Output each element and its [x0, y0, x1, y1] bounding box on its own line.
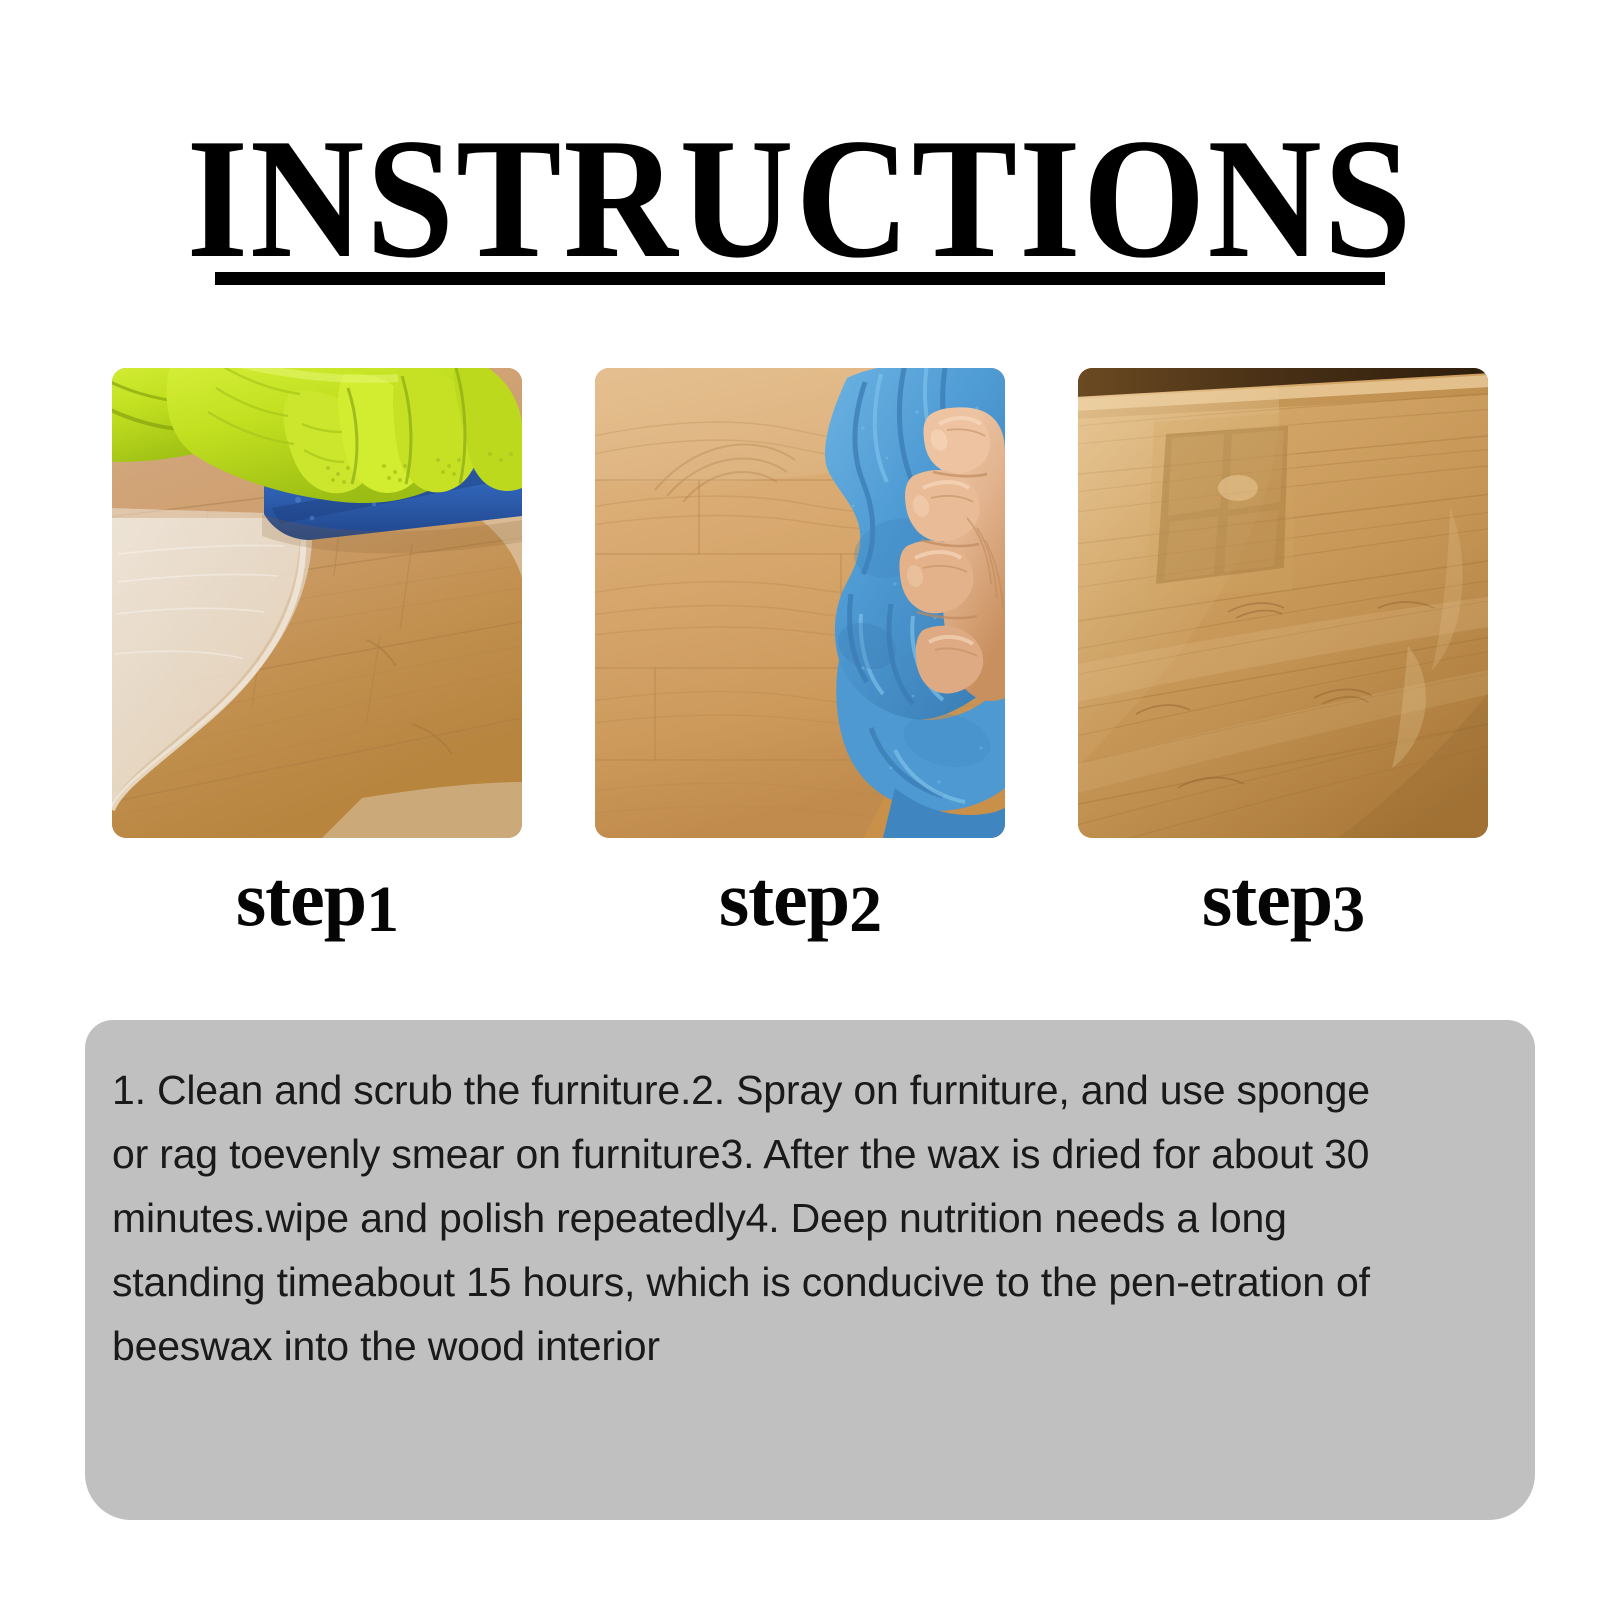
step-cell-2: step2	[595, 368, 1005, 938]
step1-label-word: step	[236, 855, 366, 942]
steps-row: step1	[112, 368, 1488, 938]
step2-label: step2	[595, 860, 1005, 938]
step2-label-word: step	[719, 855, 849, 942]
step1-photo	[112, 368, 522, 838]
instructions-poster: INSTRUCTIONS	[0, 0, 1600, 1600]
step-cell-1: step1	[112, 368, 522, 938]
title-underline-rule	[215, 272, 1385, 285]
description-text: 1. Clean and scrub the furniture.2. Spra…	[112, 1058, 1402, 1378]
step3-label-word: step	[1202, 855, 1332, 942]
step1-label-number: 1	[366, 873, 398, 946]
step2-photo	[595, 368, 1005, 838]
step-cell-3: step3	[1078, 368, 1488, 938]
step1-illustration-icon	[112, 368, 522, 838]
page-title: INSTRUCTIONS	[64, 118, 1536, 281]
step1-label: step1	[112, 860, 522, 938]
page-title-block: INSTRUCTIONS	[0, 118, 1600, 281]
step2-illustration-icon	[595, 368, 1005, 838]
step3-label-number: 3	[1332, 873, 1364, 946]
step3-photo	[1078, 368, 1488, 838]
description-panel: 1. Clean and scrub the furniture.2. Spra…	[85, 1020, 1535, 1520]
step3-illustration-icon	[1078, 368, 1488, 838]
step3-label: step3	[1078, 860, 1488, 938]
step2-label-number: 2	[849, 873, 881, 946]
